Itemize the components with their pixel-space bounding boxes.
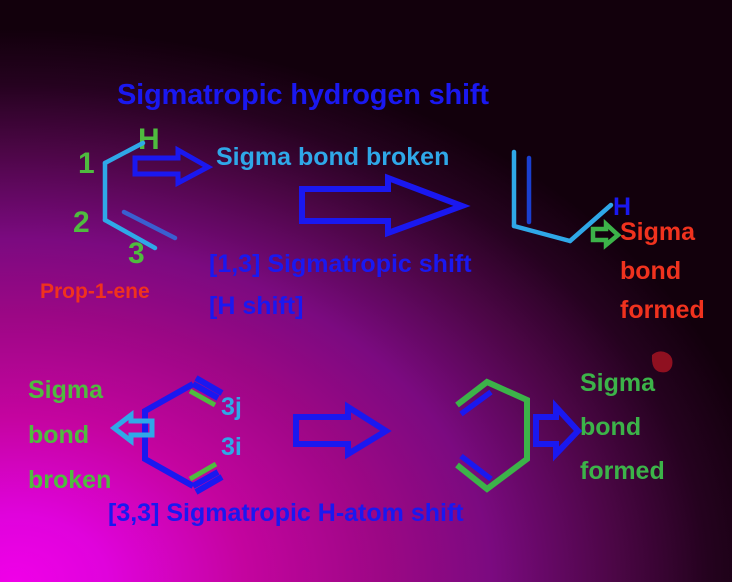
sigma-formed-label-line3: formed: [620, 297, 705, 324]
slide-canvas: Sigmatropic hydrogen shift 1 2 3 H Prop-…: [0, 0, 732, 582]
right-ring-structure: [457, 382, 527, 489]
sigma-formed-bottom-line2: bond: [580, 414, 641, 441]
bottom-caption: [3,3] Sigmatropic H-atom shift: [108, 500, 464, 527]
sigma-broken-label-line2: bond: [28, 422, 89, 449]
sigma-broken-label-line3: broken: [28, 467, 111, 494]
middle-arrow-bottom: [296, 407, 386, 454]
sigma-formed-bottom-line1: Sigma: [580, 370, 655, 397]
sigma-formed-bottom-line3: formed: [580, 458, 665, 485]
left-arrow-broken-cyan: [114, 415, 152, 441]
reactant-h-label: H: [138, 124, 160, 156]
shift-label-line1: [1,3] Sigmatropic shift: [209, 251, 472, 278]
sigma-bond-broken-label-top: Sigma bond broken: [216, 144, 449, 171]
right-arrow-formed: [536, 407, 578, 454]
ring-label-3i: 3i: [221, 434, 242, 461]
sigma-formed-label-line1: Sigma: [620, 219, 695, 246]
shift-label-line2: [H shift]: [209, 293, 303, 320]
small-arrow-formed-green: [593, 224, 618, 245]
big-arrow-transformation: [302, 178, 462, 233]
page-title: Sigmatropic hydrogen shift: [117, 80, 489, 111]
product-h-label: H: [613, 194, 631, 221]
carbon-number-1: 1: [78, 148, 95, 180]
reactant-name: Prop-1-ene: [40, 281, 150, 304]
product-skeleton: [514, 152, 611, 241]
carbon-number-3: 3: [128, 238, 145, 270]
ring-label-3j: 3j: [221, 394, 242, 421]
sigma-broken-label-line1: Sigma: [28, 377, 103, 404]
reactant-skeleton: [105, 143, 175, 248]
sigma-formed-label-line2: bond: [620, 258, 681, 285]
left-ring-structure: [145, 378, 222, 492]
carbon-number-2: 2: [73, 207, 90, 239]
